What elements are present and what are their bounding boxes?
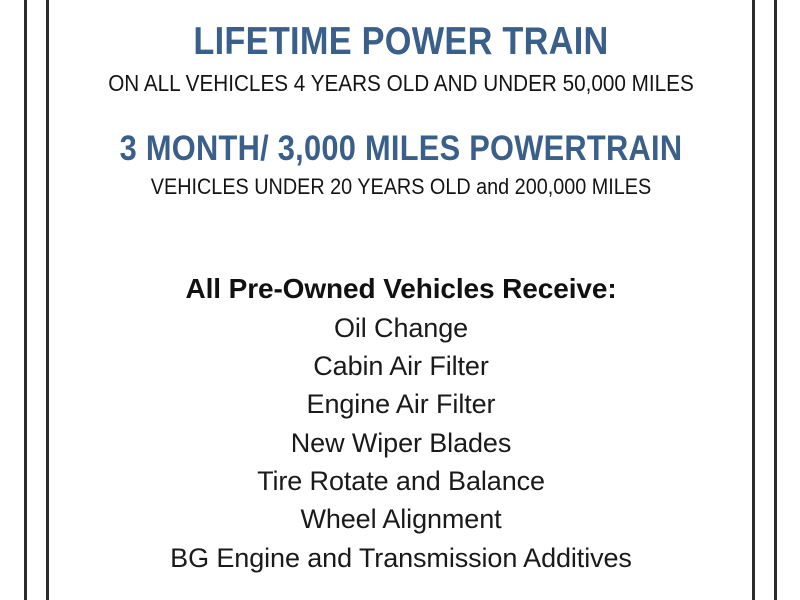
service-item: New Wiper Blades [50, 424, 752, 462]
flyer-page: LIFETIME POWER TRAIN ON ALL VEHICLES 4 Y… [0, 0, 800, 600]
flyer-content: LIFETIME POWER TRAIN ON ALL VEHICLES 4 Y… [50, 0, 752, 600]
services-heading: All Pre-Owned Vehicles Receive: [50, 272, 752, 305]
border-rule-left-inner [46, 0, 49, 600]
warranty-subtitle-3month-powertrain: VEHICLES UNDER 20 YEARS OLD and 200,000 … [85, 175, 717, 198]
warranty-title-lifetime-powertrain: LIFETIME POWER TRAIN [92, 22, 710, 62]
warranty-title-3month-powertrain: 3 MONTH/ 3,000 MILES POWERTRAIN [92, 131, 710, 167]
service-item: Tire Rotate and Balance [50, 462, 752, 500]
border-rule-right-inner [752, 0, 755, 600]
warranty-block-lifetime-powertrain: LIFETIME POWER TRAIN ON ALL VEHICLES 4 Y… [50, 22, 752, 95]
service-item: Wheel Alignment [50, 500, 752, 538]
border-rule-right-outer [774, 0, 777, 600]
service-item: BG Engine and Transmission Additives [50, 539, 752, 577]
border-rule-left-outer [24, 0, 27, 600]
warranty-subtitle-lifetime-powertrain: ON ALL VEHICLES 4 YEARS OLD AND UNDER 50… [85, 71, 717, 95]
services-section: All Pre-Owned Vehicles Receive: Oil Chan… [50, 272, 752, 577]
service-item: Oil Change [50, 309, 752, 347]
services-list: Oil Change Cabin Air Filter Engine Air F… [50, 309, 752, 577]
warranty-block-3month-powertrain: 3 MONTH/ 3,000 MILES POWERTRAIN VEHICLES… [50, 131, 752, 198]
service-item: Engine Air Filter [50, 385, 752, 423]
service-item: Cabin Air Filter [50, 347, 752, 385]
